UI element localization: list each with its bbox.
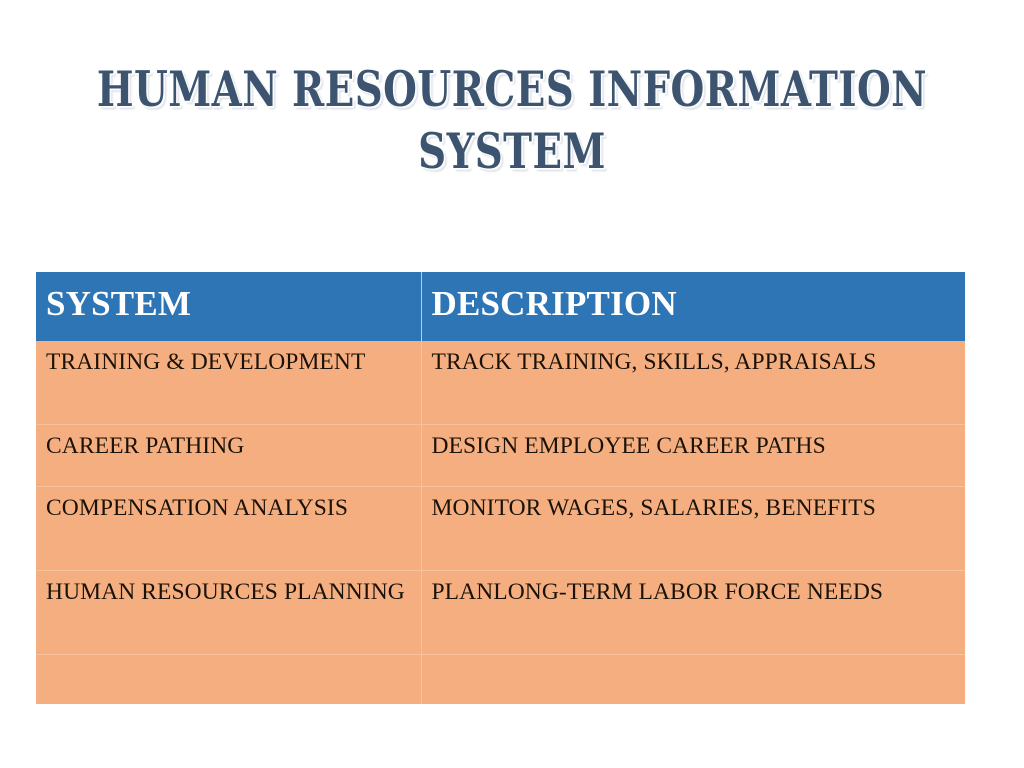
cell-system-text: CAREER PATHING [46, 431, 411, 461]
cell-description-text: MONITOR WAGES, SALARIES, BENEFITS [432, 493, 956, 523]
column-header-description: DESCRIPTION [421, 272, 965, 341]
cell-system: TRAINING & DEVELOPMENT [36, 341, 421, 425]
cell-system-text: COMPENSATION ANALYSIS [46, 493, 411, 523]
cell-system: CAREER PATHING [36, 425, 421, 487]
cell-description-text: TRACK TRAINING, SKILLS, APPRAISALS [432, 347, 956, 377]
slide-title-block: HUMAN RESOURCES INFORMATION SYSTEM [36, 58, 988, 182]
hris-table: SYSTEM DESCRIPTION TRAINING & DEVELOPMEN… [36, 272, 965, 704]
table-header: SYSTEM DESCRIPTION [36, 272, 965, 341]
cell-system: COMPENSATION ANALYSIS [36, 487, 421, 571]
cell-description: TRACK TRAINING, SKILLS, APPRAISALS [421, 341, 965, 425]
hris-table-container: SYSTEM DESCRIPTION TRAINING & DEVELOPMEN… [36, 272, 965, 704]
page-title: HUMAN RESOURCES INFORMATION SYSTEM [93, 58, 931, 182]
table-row: HUMAN RESOURCES PLANNING PLANLONG-TERM L… [36, 571, 965, 655]
table-header-row: SYSTEM DESCRIPTION [36, 272, 965, 341]
cell-system [36, 655, 421, 705]
cell-system: HUMAN RESOURCES PLANNING [36, 571, 421, 655]
cell-description-text: DESIGN EMPLOYEE CAREER PATHS [432, 431, 956, 461]
slide-canvas: HUMAN RESOURCES INFORMATION SYSTEM SYSTE… [0, 0, 1024, 768]
table-body: TRAINING & DEVELOPMENT TRACK TRAINING, S… [36, 341, 965, 704]
cell-description: PLANLONG-TERM LABOR FORCE NEEDS [421, 571, 965, 655]
column-header-system: SYSTEM [36, 272, 421, 341]
cell-description [421, 655, 965, 705]
cell-description: DESIGN EMPLOYEE CAREER PATHS [421, 425, 965, 487]
cell-system-text: TRAINING & DEVELOPMENT [46, 347, 411, 377]
table-row: TRAINING & DEVELOPMENT TRACK TRAINING, S… [36, 341, 965, 425]
table-row: CAREER PATHING DESIGN EMPLOYEE CAREER PA… [36, 425, 965, 487]
cell-description-text: PLANLONG-TERM LABOR FORCE NEEDS [432, 577, 956, 607]
cell-system-text: HUMAN RESOURCES PLANNING [46, 577, 411, 607]
table-row [36, 655, 965, 705]
table-row: COMPENSATION ANALYSIS MONITOR WAGES, SAL… [36, 487, 965, 571]
cell-description: MONITOR WAGES, SALARIES, BENEFITS [421, 487, 965, 571]
